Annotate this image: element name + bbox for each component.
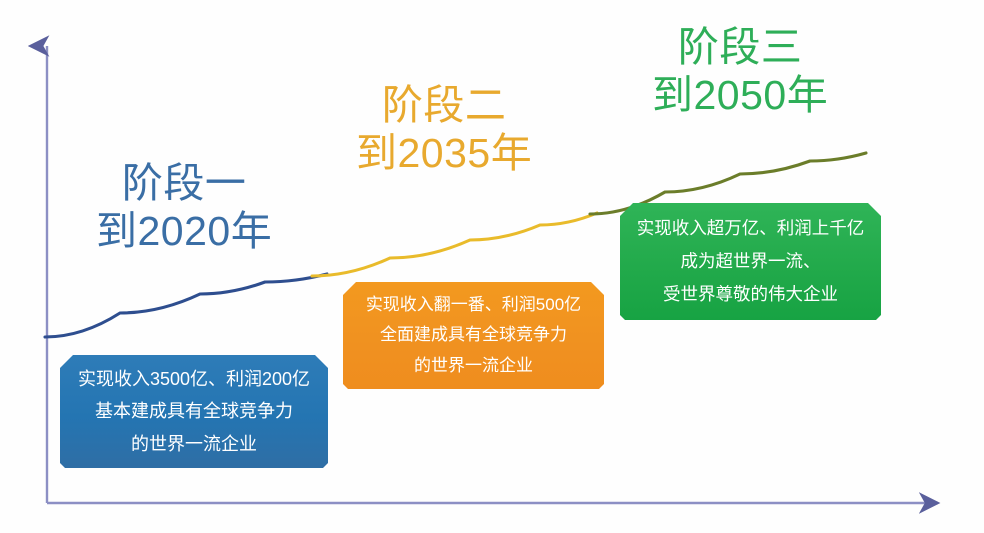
strategy-roadmap-figure: 阶段一 到2020年 阶段二 到2035年 阶段三 到2050年 实现收入350… — [0, 0, 984, 533]
phase-2-heading-line2: 到2035年 — [356, 130, 532, 178]
phase-3-heading: 阶段三 到2050年 — [652, 24, 828, 119]
phase-2-goal-line-1: 实现收入翻一番、利润500亿 — [366, 290, 581, 321]
phase-1-heading-line1: 阶段一 — [96, 160, 272, 208]
phase-1-goal-line-3: 的世界一流企业 — [131, 428, 257, 460]
phase-3-goal-banner: 实现收入超万亿、利润上千亿 成为超世界一流、 受世界尊敬的伟大企业 — [620, 203, 881, 320]
phase-1-goal-line-2: 基本建成具有全球竞争力 — [95, 395, 293, 427]
phase-3-goal-line-1: 实现收入超万亿、利润上千亿 — [637, 212, 865, 245]
phase-2-goal-line-3: 的世界一流企业 — [414, 351, 533, 382]
phase-2-goal-banner: 实现收入翻一番、利润500亿 全面建成具有全球竞争力 的世界一流企业 — [343, 282, 604, 389]
phase-3-heading-line2: 到2050年 — [652, 72, 828, 120]
phase-2-heading: 阶段二 到2035年 — [356, 82, 532, 177]
phase-1-heading-line2: 到2020年 — [96, 208, 272, 256]
phase-2-heading-line1: 阶段二 — [356, 82, 532, 130]
phase-3-goal-line-3: 受世界尊敬的伟大企业 — [663, 278, 838, 311]
phase-3-goal-line-2: 成为超世界一流、 — [681, 245, 821, 278]
phase-3-heading-line1: 阶段三 — [652, 24, 828, 72]
phase-1-heading: 阶段一 到2020年 — [96, 160, 272, 255]
phase-1-goal-line-1: 实现收入3500亿、利润200亿 — [78, 363, 310, 395]
phase-2-goal-line-2: 全面建成具有全球竞争力 — [380, 320, 567, 351]
phase-1-goal-banner: 实现收入3500亿、利润200亿 基本建成具有全球竞争力 的世界一流企业 — [60, 355, 328, 468]
